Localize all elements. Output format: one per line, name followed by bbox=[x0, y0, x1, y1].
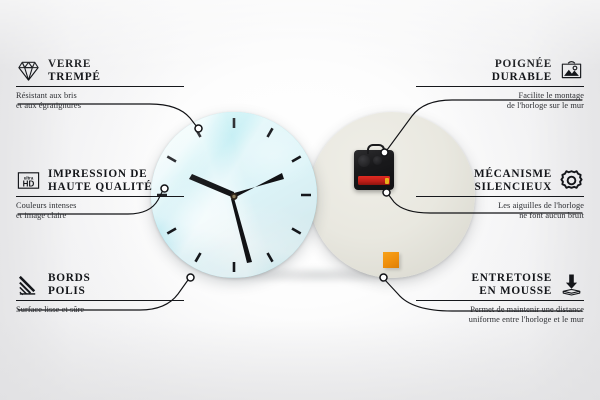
feature-title-line1: VERRE bbox=[48, 58, 91, 70]
feature-title-line1: POIGNÉE bbox=[495, 58, 552, 70]
gear-icon bbox=[559, 168, 584, 193]
leader-dot-poignee bbox=[381, 149, 388, 156]
feature-divider bbox=[416, 300, 584, 301]
feature-title-line2: TREMPÉ bbox=[48, 71, 101, 83]
feature-divider bbox=[416, 196, 584, 197]
ultra-hd-icon: ultra HD bbox=[16, 168, 41, 193]
feature-entretoise-en-mousse: ENTRETOISE EN MOUSSE Permet de maintenir… bbox=[416, 272, 584, 325]
feature-title-line1: ENTRETOISE bbox=[472, 272, 552, 284]
feature-title-line2: SILENCIEUX bbox=[474, 181, 552, 193]
feature-poignee-durable: POIGNÉE DURABLE Facilite le montage de l… bbox=[416, 58, 584, 111]
feature-impression-haute-qualite: ultra HD IMPRESSION DE HAUTE QUALITÉ Cou… bbox=[16, 168, 184, 221]
foam-spacer-icon bbox=[559, 272, 584, 297]
feature-divider bbox=[16, 196, 184, 197]
infographic-canvas: VERRE TREMPÉ Résistant aux bris et aux é… bbox=[0, 0, 600, 400]
feature-title-line2: DURABLE bbox=[492, 71, 552, 83]
feature-desc-line1: Les aiguilles de l'horloge bbox=[498, 201, 584, 210]
polished-edges-icon bbox=[16, 272, 41, 297]
feature-title-line2: HAUTE QUALITÉ bbox=[48, 181, 152, 193]
feature-desc-line1: Facilite le montage bbox=[519, 91, 585, 100]
feature-desc-line1: Résistant aux bris bbox=[16, 91, 77, 100]
feature-desc-line1: Couleurs intenses bbox=[16, 201, 76, 210]
feature-title-line2: EN MOUSSE bbox=[479, 285, 552, 297]
feature-mecanisme-silencieux: MÉCANISME SILENCIEUX Les aiguilles de l'… bbox=[416, 168, 584, 221]
leader-dot-verre bbox=[195, 125, 202, 132]
feature-divider bbox=[16, 86, 184, 87]
feature-desc-line2: de l'horloge sur le mur bbox=[507, 101, 584, 110]
feature-divider bbox=[16, 300, 184, 301]
leader-dot-entretoise bbox=[380, 274, 387, 281]
feature-desc-line2: et image claire bbox=[16, 211, 66, 220]
feature-desc-line2: uniforme entre l'horloge et le mur bbox=[469, 315, 584, 324]
feature-divider bbox=[416, 86, 584, 87]
feature-title-line2: POLIS bbox=[48, 285, 86, 297]
diamond-icon bbox=[16, 58, 41, 83]
feature-verre-trempe: VERRE TREMPÉ Résistant aux bris et aux é… bbox=[16, 58, 184, 111]
feature-title-line1: BORDS bbox=[48, 272, 91, 284]
feature-bords-polis: BORDS POLIS Surface lisse et sûre bbox=[16, 272, 184, 315]
feature-desc-line1: Permet de maintenir une distance bbox=[470, 305, 584, 314]
feature-title-line1: MÉCANISME bbox=[474, 168, 552, 180]
feature-desc-line1: Surface lisse et sûre bbox=[16, 305, 84, 314]
feature-desc-line2: ne font aucun bruit bbox=[519, 211, 584, 220]
wall-hanger-icon bbox=[559, 58, 584, 83]
feature-title-line1: IMPRESSION DE bbox=[48, 168, 147, 180]
leader-dot-bords bbox=[187, 274, 194, 281]
svg-text:HD: HD bbox=[23, 179, 35, 188]
feature-desc-line2: et aux égratignures bbox=[16, 101, 81, 110]
leader-dot-mecanisme bbox=[383, 189, 390, 196]
